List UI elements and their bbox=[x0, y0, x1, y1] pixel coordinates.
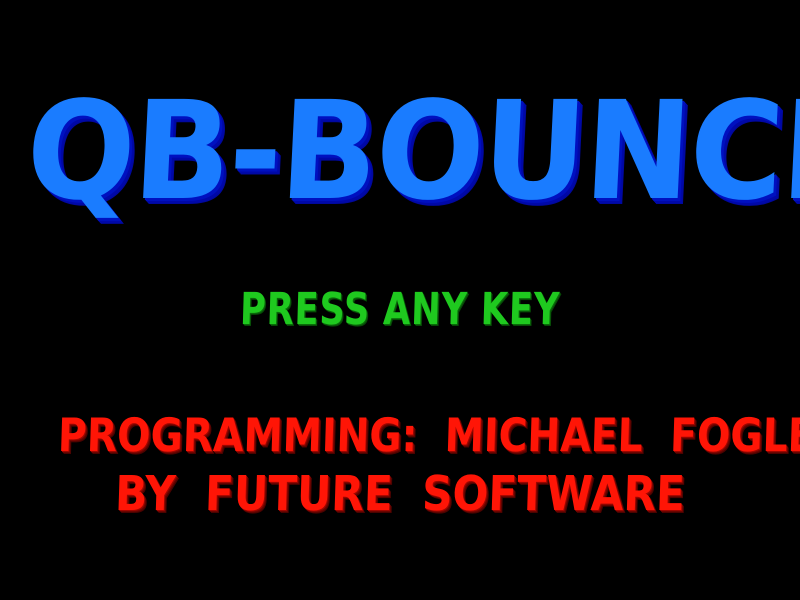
credit-line-publisher: BY FUTURE SOFTWARE bbox=[47, 470, 752, 518]
game-title-screen[interactable]: QB-BOUNCE PRESS ANY KEY PROGRAMMING: MIC… bbox=[0, 0, 800, 600]
game-title-container: QB-BOUNCE bbox=[0, 84, 800, 220]
game-title: QB-BOUNCE bbox=[23, 84, 800, 220]
credit-line-programming: PROGRAMMING: MICHAEL FOGLEMAN bbox=[57, 412, 742, 458]
press-any-key-container: PRESS ANY KEY bbox=[0, 288, 800, 332]
credits-container: PROGRAMMING: MICHAEL FOGLEMAN BY FUTURE … bbox=[0, 412, 800, 518]
press-any-key-prompt[interactable]: PRESS ANY KEY bbox=[239, 288, 560, 332]
